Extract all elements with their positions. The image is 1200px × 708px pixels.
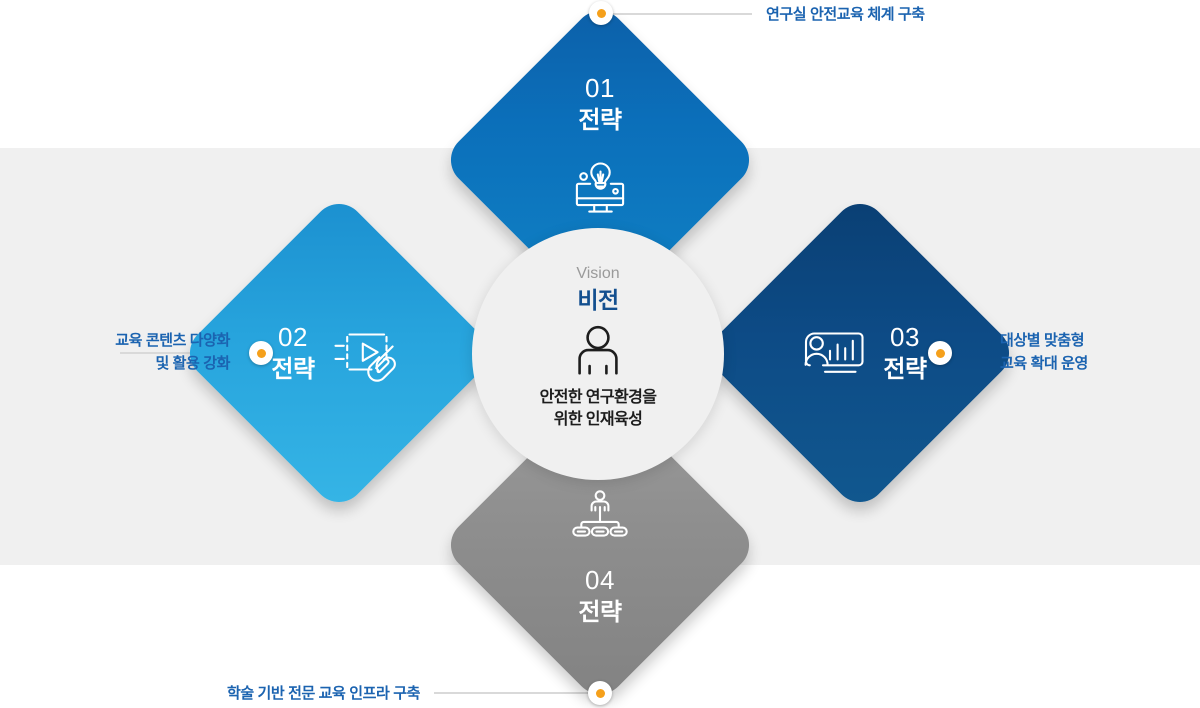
connector-dot-03[interactable] bbox=[928, 341, 952, 365]
vision-circle: Vision 비전 안전한 연구환경을 위한 인재육성 bbox=[472, 228, 724, 480]
callout-label-03: 대상별 맞춤형 교육 확대 운영 bbox=[1000, 329, 1190, 375]
vision-description: 안전한 연구환경을 위한 인재육성 bbox=[540, 387, 657, 431]
monitor-lightbulb-icon bbox=[569, 159, 631, 217]
callout-label-02: 교육 콘텐츠 다양화 및 활용 강화 bbox=[20, 329, 230, 375]
strategy-card-03[interactable]: 03 전략 bbox=[700, 193, 1020, 513]
strategy-number: 02 bbox=[278, 320, 308, 354]
connector-line-04 bbox=[434, 692, 600, 694]
callout-label-01: 연구실 안전교육 체계 구축 bbox=[766, 3, 1066, 26]
org-chart-icon bbox=[571, 489, 629, 541]
person-icon bbox=[572, 324, 624, 382]
connector-dot-04[interactable] bbox=[588, 681, 612, 705]
strategy-label: 전략 bbox=[578, 597, 621, 629]
vision-kor-title: 비전 bbox=[577, 285, 618, 315]
strategy-number: 03 bbox=[890, 320, 920, 354]
strategy-number: 01 bbox=[585, 71, 615, 105]
diagram-canvas: 01 전략 bbox=[0, 0, 1200, 708]
connector-line-01 bbox=[612, 13, 752, 15]
strategy-label: 전략 bbox=[883, 354, 926, 386]
video-attachment-icon bbox=[333, 324, 399, 382]
callout-label-04: 학술 기반 전문 교육 인프라 구축 bbox=[120, 682, 420, 705]
person-barchart-icon bbox=[801, 326, 865, 380]
strategy-label: 전략 bbox=[578, 105, 621, 137]
strategy-label: 전략 bbox=[271, 354, 314, 386]
connector-dot-02[interactable] bbox=[249, 341, 273, 365]
connector-dot-01[interactable] bbox=[589, 1, 613, 25]
strategy-number: 04 bbox=[585, 563, 615, 597]
vision-eng-title: Vision bbox=[576, 264, 619, 284]
